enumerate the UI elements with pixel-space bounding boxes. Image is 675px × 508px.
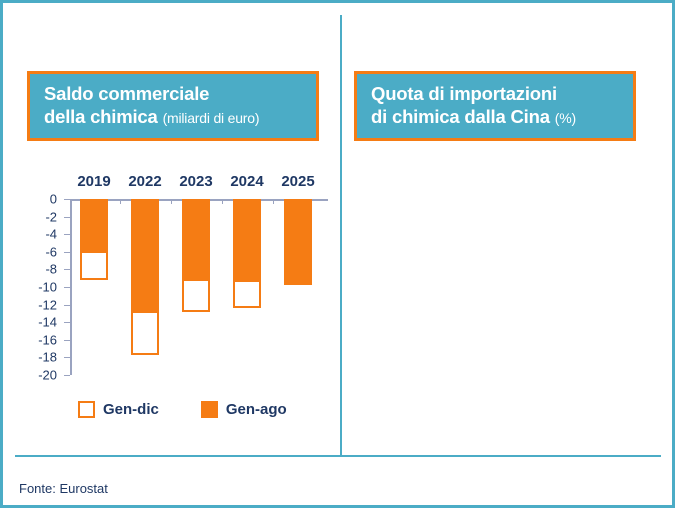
left-y-tick	[64, 252, 70, 253]
right-title-unit: (%)	[555, 110, 576, 126]
right-chart-title-box: Quota di importazioni di chimica dalla C…	[354, 71, 636, 141]
legend-swatch-hollow-icon	[78, 401, 95, 418]
left-category-label-2022: 2022	[128, 173, 161, 190]
infographic-card: Saldo commerciale della chimica (miliard…	[0, 0, 675, 508]
left-title-unit: (miliardi di euro)	[163, 110, 260, 126]
bar-gendic-2023	[182, 279, 210, 312]
left-y-tick-label: -2	[17, 209, 57, 224]
footer-divider	[15, 455, 661, 457]
left-y-tick-label: -4	[17, 227, 57, 242]
left-category-label-2024: 2024	[230, 173, 263, 190]
left-y-tick	[64, 375, 70, 376]
left-title-line1: Saldo commerciale	[44, 83, 304, 106]
left-y-tick-label: -18	[17, 350, 57, 365]
left-category-label-2019: 2019	[77, 173, 110, 190]
legend-label-gen-ago: Gen-ago	[226, 401, 287, 418]
left-y-tick	[64, 305, 70, 306]
saldo-commerciale-chart: 0 -2 -4 -6 -8 -10 -12 -14 -16 -18 -20 20…	[23, 168, 333, 393]
bar-gendic-2022	[131, 311, 159, 355]
right-title-line1: Quota di importazioni	[371, 83, 621, 106]
left-y-axis-line	[70, 199, 72, 375]
left-x-tick	[273, 199, 274, 204]
left-x-tick	[171, 199, 172, 204]
left-y-tick	[64, 234, 70, 235]
right-title-line2: di chimica dalla Cina (%)	[371, 106, 621, 129]
legend-swatch-solid-icon	[201, 401, 218, 418]
left-y-tick-label: -12	[17, 297, 57, 312]
left-y-tick	[64, 199, 70, 200]
left-chart-title-box: Saldo commerciale della chimica (miliard…	[27, 71, 319, 141]
left-y-tick	[64, 287, 70, 288]
source-note: Fonte: Eurostat	[19, 481, 108, 496]
right-title-line2-text: di chimica dalla Cina	[371, 106, 550, 127]
left-y-tick-label: -6	[17, 244, 57, 259]
left-y-tick	[64, 340, 70, 341]
left-chart-legend: Gen-dic Gen-ago	[78, 401, 287, 418]
left-category-label-2025: 2025	[281, 173, 314, 190]
left-title-line2: della chimica (miliardi di euro)	[44, 106, 304, 129]
left-x-tick	[222, 199, 223, 204]
bar-genago-2022	[131, 199, 159, 311]
legend-label-gen-dic: Gen-dic	[103, 401, 159, 418]
left-y-tick-label: -20	[17, 368, 57, 383]
left-category-label-2023: 2023	[179, 173, 212, 190]
left-x-tick	[120, 199, 121, 204]
left-title-line2-text: della chimica	[44, 106, 158, 127]
left-y-tick	[64, 217, 70, 218]
left-y-tick	[64, 269, 70, 270]
left-panel: Saldo commerciale della chimica (miliard…	[3, 3, 343, 505]
left-y-tick-label: -8	[17, 262, 57, 277]
bar-genago-2024	[233, 199, 261, 280]
legend-item-gen-ago: Gen-ago	[201, 401, 287, 418]
right-panel: Quota di importazioni di chimica dalla C…	[343, 3, 675, 505]
bar-gendic-2024	[233, 280, 261, 308]
left-y-tick-label: -14	[17, 315, 57, 330]
left-y-tick	[64, 357, 70, 358]
bar-gendic-2019	[80, 251, 108, 281]
bar-genago-2025	[284, 199, 312, 285]
left-y-tick-label: 0	[17, 192, 57, 207]
bar-genago-2023	[182, 199, 210, 279]
left-y-tick-label: -10	[17, 280, 57, 295]
legend-item-gen-dic: Gen-dic	[78, 401, 159, 418]
left-y-tick-label: -16	[17, 332, 57, 347]
left-y-tick	[64, 322, 70, 323]
